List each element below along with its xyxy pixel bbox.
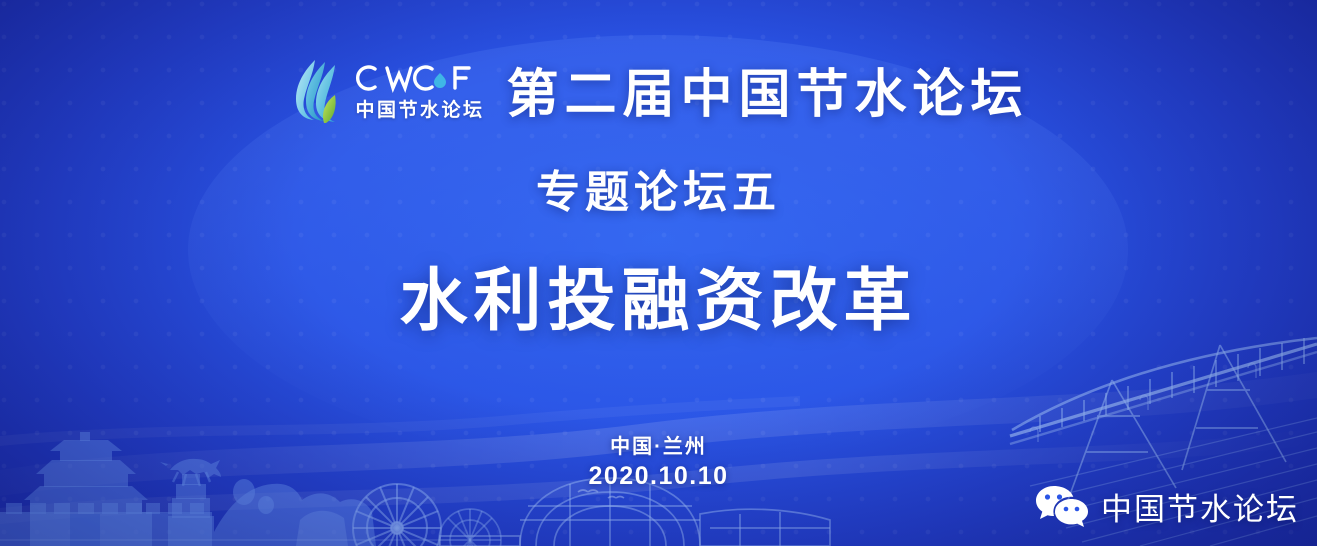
cwcf-logo: 中国节水论坛 xyxy=(288,57,484,123)
brand-header: 中国节水论坛 第二届中国节水论坛 xyxy=(0,52,1317,127)
forum-subtitle: 专题论坛五 xyxy=(0,156,1317,220)
poster-canvas: 中国节水论坛 第二届中国节水论坛 专题论坛五 水利投融资改革 中国·兰州 202… xyxy=(0,0,1317,546)
bird-icon xyxy=(578,490,624,498)
cwcf-acronym xyxy=(355,60,473,96)
event-title: 第二届中国节水论坛 xyxy=(507,52,1029,127)
water-droplet-leaf-logo xyxy=(288,57,346,123)
venue-city: 中国·兰州 xyxy=(0,430,1317,459)
wechat-icon xyxy=(1034,482,1090,530)
water-wheel-small xyxy=(439,509,501,546)
cwcf-chinese-name: 中国节水论坛 xyxy=(355,101,484,120)
wechat-account-name: 中国节水论坛 xyxy=(1101,484,1299,529)
poster-headline: 水利投融资改革 xyxy=(0,245,1317,344)
water-wheel xyxy=(353,484,441,546)
water-drop-icon xyxy=(434,73,446,88)
wechat-account-badge[interactable]: 中国节水论坛 xyxy=(1034,482,1299,530)
